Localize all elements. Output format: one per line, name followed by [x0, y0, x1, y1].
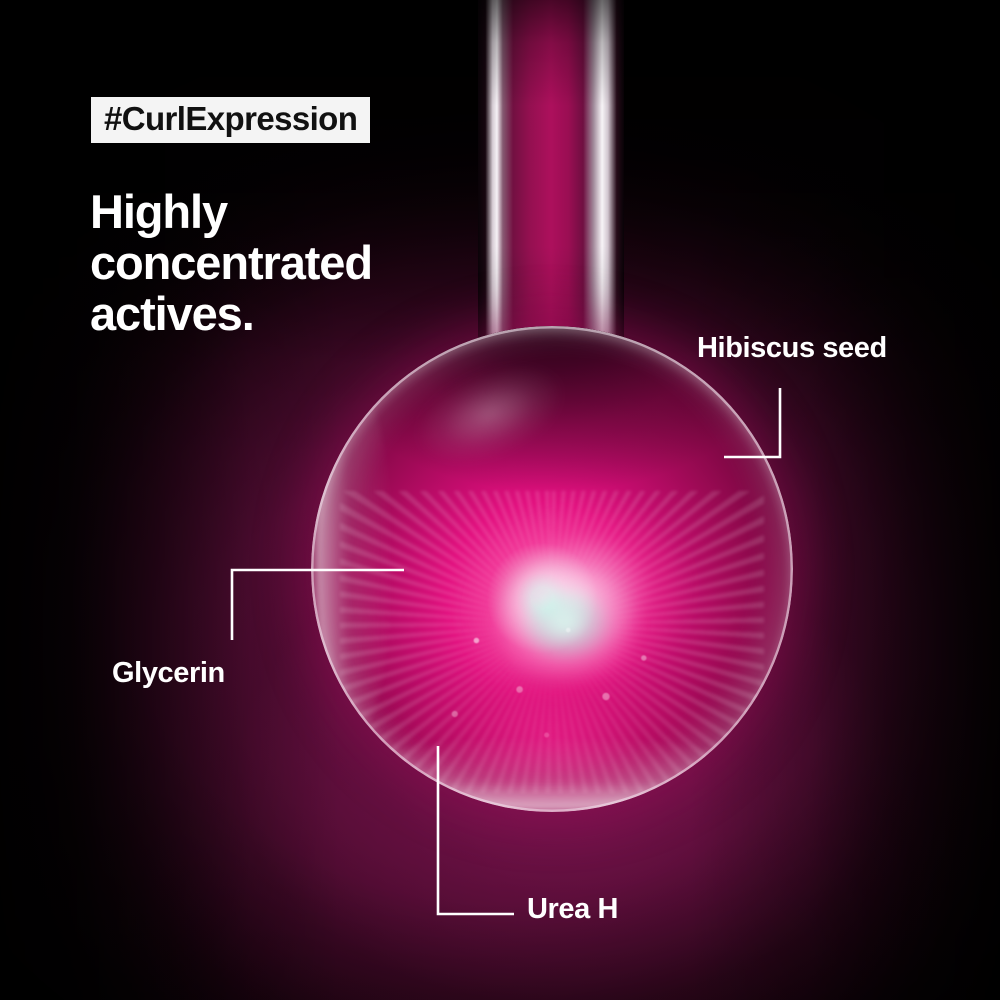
leader-line-glycerin: [228, 566, 408, 644]
leader-line-urea-h: [434, 744, 518, 920]
pipette-stem: [478, 0, 624, 344]
promo-image-canvas: #CurlExpression Highly concentrated acti…: [0, 0, 1000, 1000]
hashtag-badge[interactable]: #CurlExpression: [91, 97, 370, 143]
leader-line-hibiscus-seed: [722, 386, 792, 466]
page-title: Highly concentrated actives.: [90, 186, 372, 340]
ingredient-label-urea-h: Urea H: [527, 893, 618, 926]
pipette-stem-shading: [478, 0, 624, 344]
ingredient-label-hibiscus-seed: Hibiscus seed: [697, 332, 887, 365]
ingredient-label-glycerin: Glycerin: [112, 657, 225, 690]
